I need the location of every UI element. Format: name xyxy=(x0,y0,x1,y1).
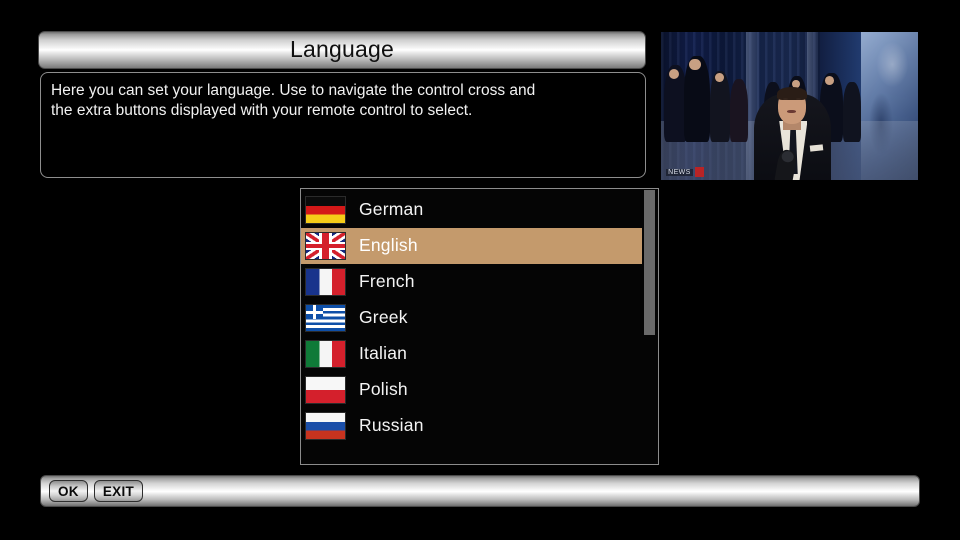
exit-button[interactable]: EXIT xyxy=(94,480,143,502)
flag-france-icon xyxy=(305,268,346,296)
language-list-panel[interactable]: German English French Greek Italian xyxy=(300,188,659,465)
ok-button[interactable]: OK xyxy=(49,480,88,502)
scrollbar[interactable] xyxy=(642,190,657,465)
union-jack-cross-red xyxy=(306,233,345,259)
flag-poland-icon xyxy=(305,376,346,404)
watermark-text: NEWS xyxy=(666,169,693,176)
list-item[interactable]: Italian xyxy=(301,336,642,372)
watermark-badge xyxy=(695,167,704,177)
list-item[interactable]: English xyxy=(301,228,642,264)
news-channel-watermark: NEWS xyxy=(666,167,704,177)
video-reporter-hair xyxy=(777,87,808,100)
list-item[interactable]: Greek xyxy=(301,300,642,336)
flag-uk-icon xyxy=(305,232,346,260)
list-item-label: Russian xyxy=(359,417,424,435)
scrollbar-thumb[interactable] xyxy=(644,190,655,335)
list-item-label: Italian xyxy=(359,345,407,363)
menu-title-bar: Language xyxy=(38,31,646,69)
list-item-label: English xyxy=(359,237,418,255)
language-list: German English French Greek Italian xyxy=(301,192,642,444)
bottom-button-bar: OK EXIT xyxy=(40,475,920,507)
list-item[interactable]: French xyxy=(301,264,642,300)
description-panel: Here you can set your language. Use to n… xyxy=(40,72,646,178)
list-item-label: Greek xyxy=(359,309,408,327)
list-item[interactable]: Polish xyxy=(301,372,642,408)
video-scene: NEWS xyxy=(661,32,918,180)
flag-italy-icon xyxy=(305,340,346,368)
video-reporter-pocket-square xyxy=(810,144,823,151)
flag-russia-icon xyxy=(305,412,346,440)
live-tv-preview[interactable]: NEWS xyxy=(661,32,918,180)
list-item-label: German xyxy=(359,201,423,219)
list-item[interactable]: Russian xyxy=(301,408,642,444)
list-item-label: Polish xyxy=(359,381,408,399)
flag-greece-icon xyxy=(305,304,346,332)
page-title: Language xyxy=(290,38,394,61)
video-reporter-eye xyxy=(796,98,801,100)
greek-canton xyxy=(306,305,323,319)
video-crowd-figure xyxy=(843,82,861,141)
flag-germany-icon xyxy=(305,196,346,224)
video-crowd-figure xyxy=(730,79,748,141)
description-text: Here you can set your language. Use to n… xyxy=(51,81,635,121)
list-item[interactable]: German xyxy=(301,192,642,228)
list-item-label: French xyxy=(359,273,415,291)
